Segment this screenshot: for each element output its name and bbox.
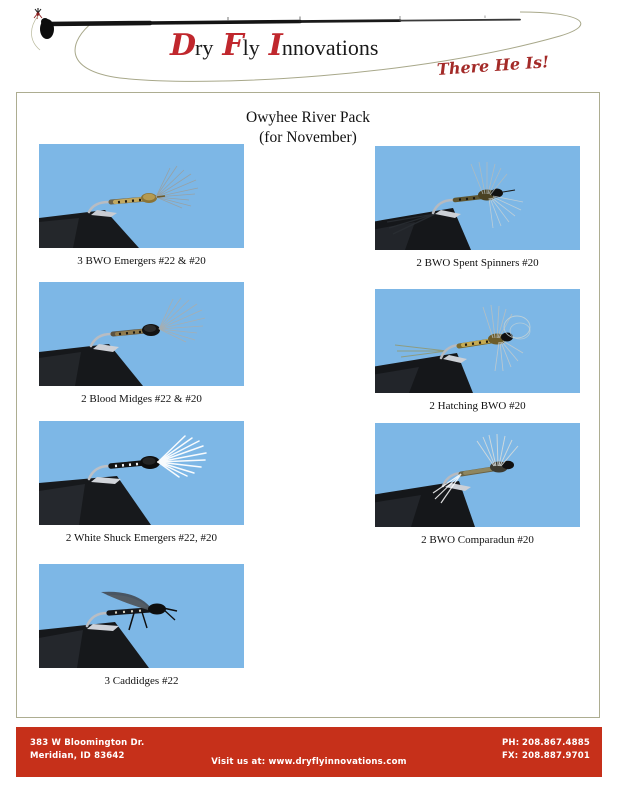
product-caption: 2 Blood Midges #22 & #20 [39,393,244,405]
footer-phone-value: 208.867.4885 [522,738,590,748]
footer-phone-label: PH: [502,737,522,750]
bwo-spent-spinner-fly-photo[interactable] [375,146,580,250]
page-footer: 383 W Bloomington Dr. Meridian, ID 83642… [16,727,602,777]
product-caption: 2 Hatching BWO #20 [375,400,580,412]
product-card-bwo-emergers[interactable]: 3 BWO Emergers #22 & #20 [39,144,244,267]
footer-phone-row: PH:208.867.4885 [502,737,590,750]
bwo-comparadun-fly-photo[interactable] [375,423,580,527]
fly-rod-icon [46,23,150,24]
brand-letter-d: D [170,28,195,63]
content-panel: Owyhee River Pack (for November) [16,92,600,718]
product-caption: 3 BWO Emergers #22 & #20 [39,255,244,267]
page-header: DryFlyInnovations There He Is! [0,0,618,92]
product-caption: 2 BWO Spent Spinners #20 [375,257,580,269]
product-caption: 2 White Shuck Emergers #22, #20 [39,532,244,544]
brand-letter-f: F [222,28,242,63]
product-card-blood-midges[interactable]: 2 Blood Midges #22 & #20 [39,282,244,405]
hatching-bwo-fly-photo[interactable] [375,289,580,393]
product-caption: 3 Caddidges #22 [39,675,244,687]
product-card-bwo-spent-spinners[interactable]: 2 BWO Spent Spinners #20 [375,146,580,269]
brand-text-ry: ry [195,35,213,60]
product-grid: 3 BWO Emergers #22 & #20 [17,93,601,719]
product-card-bwo-comparadun[interactable]: 2 BWO Comparadun #20 [375,423,580,546]
brand-text-nnovations: nnovations [282,35,379,60]
white-shuck-emerger-fly-photo[interactable] [39,421,244,525]
brand-text-ly: ly [243,35,260,60]
brand-wordmark: DryFlyInnovations [170,31,378,61]
blood-midge-fly-photo[interactable] [39,282,244,386]
tied-fly-icon [34,8,42,19]
footer-address-line1: 383 W Bloomington Dr. [30,737,144,750]
brand-letter-i: I [269,28,282,63]
product-caption: 2 BWO Comparadun #20 [375,534,580,546]
product-card-caddidges[interactable]: 3 Caddidges #22 [39,564,244,687]
caddis-fly-photo[interactable] [39,564,244,668]
product-card-white-shuck-emergers[interactable]: 2 White Shuck Emergers #22, #20 [39,421,244,544]
product-card-hatching-bwo[interactable]: 2 Hatching BWO #20 [375,289,580,412]
bwo-emerger-fly-photo[interactable] [39,144,244,248]
footer-website-link[interactable]: Visit us at: www.dryflyinnovations.com [16,757,602,767]
